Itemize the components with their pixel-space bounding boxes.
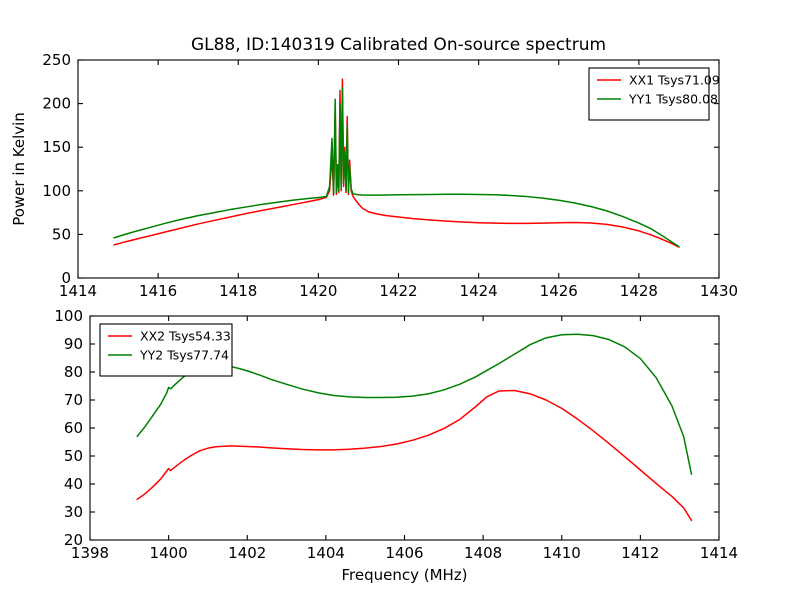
x-tick-label: 1424 — [460, 282, 498, 300]
x-tick-label: 1400 — [150, 544, 188, 562]
legend-bottom: XX2 Tsys54.33YY2 Tsys77.74 — [100, 324, 232, 376]
x-tick-label: 1412 — [621, 544, 659, 562]
x-tick-label: 1426 — [540, 282, 578, 300]
y-tick-label: 60 — [64, 419, 83, 437]
x-tick-label: 1418 — [219, 282, 257, 300]
panel-bottom: 1398140014021404140614081410141214142030… — [54, 307, 738, 584]
x-tick-label: 1402 — [228, 544, 266, 562]
x-axis-label: Frequency (MHz) — [341, 566, 467, 584]
x-tick-label: 1430 — [700, 282, 738, 300]
y-tick-label: 0 — [61, 269, 71, 287]
legend-label: YY2 Tsys77.74 — [139, 348, 229, 363]
x-tick-label: 1414 — [700, 544, 738, 562]
y-tick-label: 30 — [64, 503, 83, 521]
panel-top: 1414141614181420142214241426142814300501… — [10, 35, 738, 300]
plot-title: GL88, ID:140319 Calibrated On-source spe… — [191, 35, 606, 55]
spectrum-figure: 1414141614181420142214241426142814300501… — [0, 0, 800, 600]
y-tick-label: 150 — [42, 138, 71, 156]
x-tick-label: 1410 — [543, 544, 581, 562]
x-tick-label: 1428 — [620, 282, 658, 300]
x-tick-label: 1420 — [299, 282, 337, 300]
y-tick-label: 100 — [54, 307, 83, 325]
y-tick-label: 50 — [52, 225, 71, 243]
y-tick-label: 200 — [42, 95, 71, 113]
legend-top: XX1 Tsys71.09YY1 Tsys80.08 — [589, 68, 720, 120]
y-tick-label: 100 — [42, 182, 71, 200]
y-tick-label: 70 — [64, 391, 83, 409]
y-tick-label: 90 — [64, 335, 83, 353]
x-tick-label: 1408 — [464, 544, 502, 562]
y-tick-label: 50 — [64, 447, 83, 465]
x-tick-label: 1404 — [307, 544, 345, 562]
y-tick-label: 40 — [64, 475, 83, 493]
y-tick-label: 20 — [64, 531, 83, 549]
legend-label: YY1 Tsys80.08 — [628, 92, 718, 107]
x-tick-label: 1406 — [385, 544, 423, 562]
legend-label: XX1 Tsys71.09 — [629, 73, 720, 88]
x-tick-label: 1416 — [139, 282, 177, 300]
y-tick-label: 80 — [64, 363, 83, 381]
y-tick-label: 250 — [42, 51, 71, 69]
legend-label: XX2 Tsys54.33 — [140, 329, 231, 344]
x-tick-label: 1422 — [379, 282, 417, 300]
spectrum-plot-canvas: 1414141614181420142214241426142814300501… — [0, 0, 800, 600]
y-axis-label: Power in Kelvin — [10, 112, 28, 226]
trace-xx2 — [137, 390, 691, 520]
